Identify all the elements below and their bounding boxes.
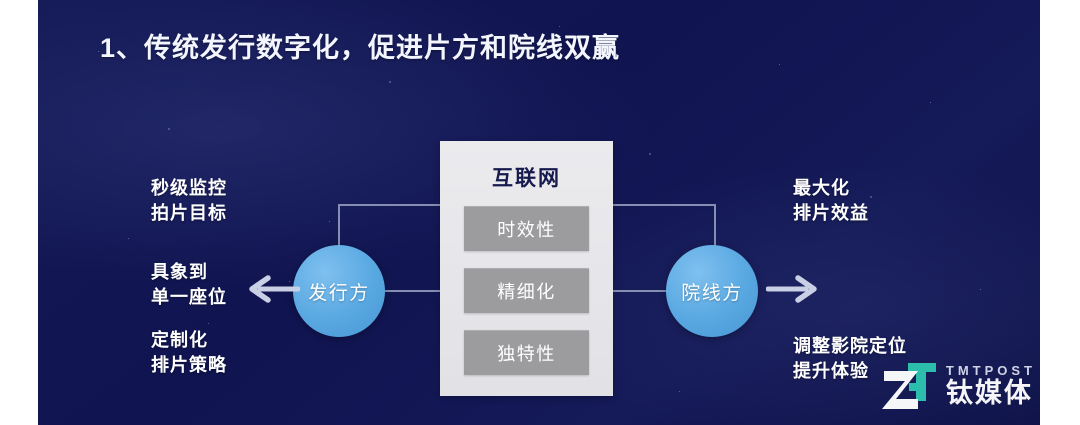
left-benefit-2-line2: 单一座位 — [151, 285, 227, 310]
left-benefit-3-line2: 排片策略 — [151, 353, 227, 378]
left-benefit-2: 具象到 单一座位 — [151, 260, 227, 310]
left-benefit-1: 秒级监控 拍片目标 — [151, 176, 227, 226]
arrow-right-icon — [766, 274, 820, 304]
right-benefit-1: 最大化 排片效益 — [793, 176, 869, 226]
watermark-chinese: 钛媒体 — [946, 379, 1036, 409]
role-circle-cinema-chain: 院线方 — [666, 245, 758, 337]
tmtpost-logo-icon — [878, 357, 940, 415]
watermark: TMTPOST 钛媒体 — [878, 353, 1036, 419]
slide-canvas: 1、传统发行数字化，促进片方和院线双赢 互联网 时效性 精细化 独特性 发行方 … — [38, 0, 1040, 425]
internet-panel-title: 互联网 — [492, 162, 561, 192]
attribute-tag-refinement: 精细化 — [464, 268, 589, 313]
internet-panel: 互联网 时效性 精细化 独特性 — [440, 141, 613, 396]
slide-root: 1、传统发行数字化，促进片方和院线双赢 互联网 时效性 精细化 独特性 发行方 … — [0, 0, 1080, 425]
left-benefit-3: 定制化 排片策略 — [151, 328, 227, 378]
arrow-left-icon — [246, 274, 300, 304]
attribute-tag-timeliness: 时效性 — [464, 206, 589, 251]
left-benefit-2-line1: 具象到 — [151, 260, 227, 285]
left-benefit-1-line1: 秒级监控 — [151, 176, 227, 201]
internet-attribute-list: 时效性 精细化 独特性 — [440, 206, 613, 375]
role-circle-distributor: 发行方 — [293, 245, 385, 337]
left-benefit-1-line2: 拍片目标 — [151, 201, 227, 226]
right-benefit-1-line1: 最大化 — [793, 176, 869, 201]
left-benefit-3-line1: 定制化 — [151, 328, 227, 353]
right-benefit-1-line2: 排片效益 — [793, 201, 869, 226]
slide-title: 1、传统发行数字化，促进片方和院线双赢 — [100, 32, 620, 66]
watermark-english: TMTPOST — [946, 363, 1036, 378]
attribute-tag-uniqueness: 独特性 — [464, 330, 589, 375]
watermark-text: TMTPOST 钛媒体 — [946, 363, 1036, 409]
